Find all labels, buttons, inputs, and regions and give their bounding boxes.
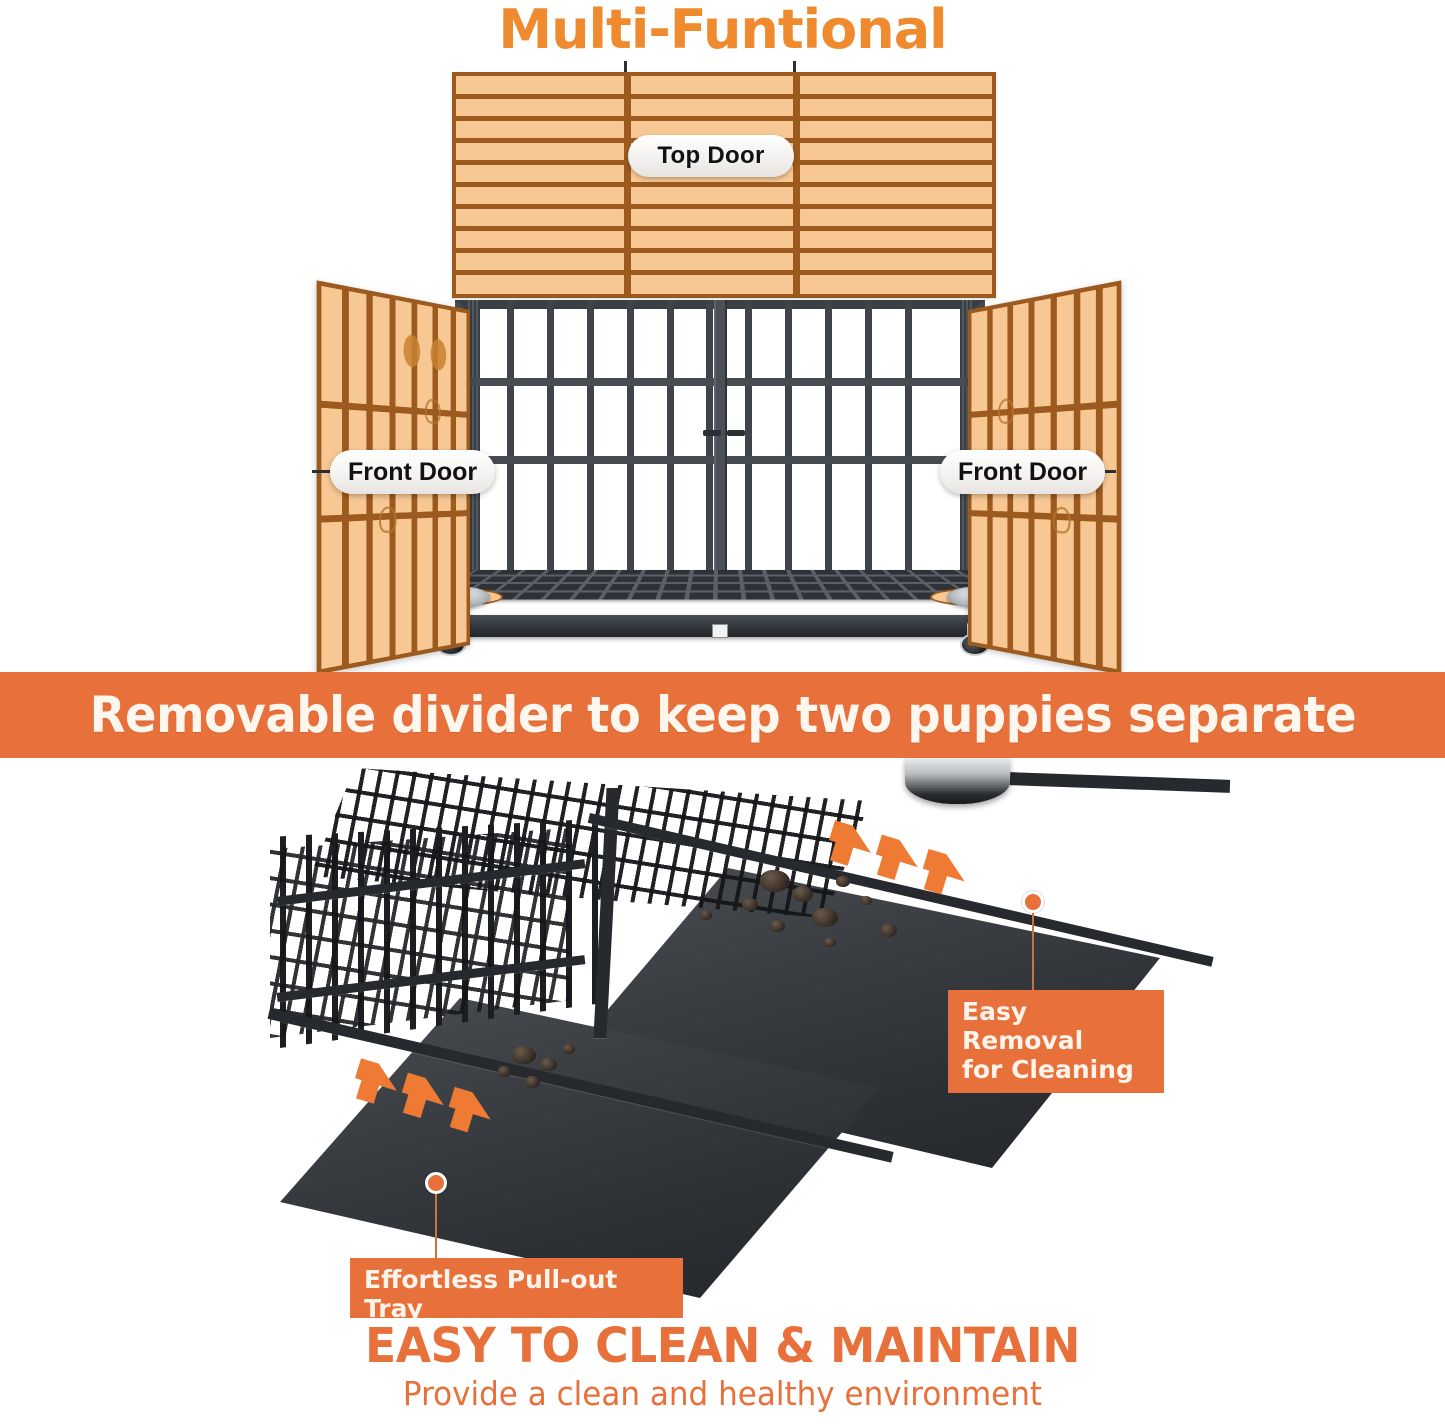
cage-latch[interactable] xyxy=(727,430,745,436)
callout-line-pull-out-tray xyxy=(435,1194,437,1264)
mounted-food-bowl xyxy=(905,758,1010,804)
top-door-bar xyxy=(456,270,992,275)
front-door-left-label-stem xyxy=(312,470,332,473)
callout-easy-removal-line2: for Cleaning xyxy=(962,1055,1150,1084)
door-hook-clip[interactable] xyxy=(998,398,1014,424)
top-door-bar xyxy=(456,94,992,99)
cage-vertical-bar xyxy=(785,300,792,596)
debris-particle xyxy=(793,886,813,902)
door-hook-clip[interactable] xyxy=(379,506,396,533)
front-door-left-label: Front Door xyxy=(330,450,495,494)
top-door-bar xyxy=(456,204,992,209)
top-door-panel[interactable] xyxy=(452,72,996,298)
cage-vertical-bar xyxy=(547,300,554,596)
callout-line-easy-removal xyxy=(1032,913,1034,996)
top-door-vertical-bar xyxy=(624,76,631,294)
cage-vertical-bar xyxy=(667,300,674,596)
debris-particle xyxy=(498,1066,511,1077)
footer-subheadline: Provide a clean and healthy environment xyxy=(43,1374,1401,1413)
callout-dot-easy-removal xyxy=(1022,891,1044,913)
debris-particle xyxy=(760,870,790,892)
door-hook-clip[interactable] xyxy=(425,398,441,424)
cage-assembly xyxy=(270,758,890,1088)
footer-headline: EASY TO CLEAN & MAINTAIN xyxy=(36,1318,1409,1374)
top-door-bar xyxy=(456,248,992,253)
debris-particle xyxy=(512,1046,536,1064)
callout-easy-removal-line1: Easy Removal xyxy=(962,997,1150,1055)
debris-particle xyxy=(700,910,712,920)
debris-particle xyxy=(861,896,872,905)
top-door-bar xyxy=(456,116,992,121)
grid-floor-bar xyxy=(713,570,718,599)
cage-vertical-bar xyxy=(745,300,752,596)
cage-vertical-bar xyxy=(905,300,912,596)
cage-vertical-bar xyxy=(627,300,634,596)
multifunctional-section: Multi-Funtional Top Door xyxy=(0,0,1445,672)
debris-particle xyxy=(770,920,785,932)
debris-particle xyxy=(824,938,836,947)
cage-vertical-bar xyxy=(706,300,713,596)
base-center-tab xyxy=(712,624,728,638)
cage-vertical-bar xyxy=(507,300,514,596)
top-door-label: Top Door xyxy=(628,135,794,177)
door-hook-clip[interactable] xyxy=(1053,507,1071,534)
debris-particle xyxy=(525,1076,540,1088)
debris-particle xyxy=(563,1044,575,1054)
callout-pull-out-tray: Effortless Pull-out Tray xyxy=(350,1258,683,1318)
door-latch-knob[interactable] xyxy=(431,338,447,371)
debris-particle xyxy=(540,1058,557,1071)
removable-divider[interactable] xyxy=(714,300,727,596)
feature-banner-text: Removable divider to keep two puppies se… xyxy=(89,686,1356,744)
top-door-vertical-bar xyxy=(793,76,800,294)
cage-body xyxy=(455,300,985,596)
debris-particle xyxy=(880,924,897,937)
cage-vertical-bar xyxy=(587,300,594,596)
rail-bar xyxy=(1010,772,1230,793)
front-door-crossbar xyxy=(971,401,1116,418)
top-door-bar xyxy=(456,182,992,187)
debris-particle xyxy=(742,898,758,911)
feature-banner: Removable divider to keep two puppies se… xyxy=(0,672,1445,758)
cage-vertical-bar xyxy=(865,300,872,596)
debris-particle xyxy=(836,876,850,887)
cage-latch[interactable] xyxy=(703,430,721,436)
door-latch-knob[interactable] xyxy=(404,334,421,368)
easy-clean-photo: Easy Removal for Cleaning Effortless Pul… xyxy=(0,758,1445,1318)
debris-particle xyxy=(812,908,838,927)
top-door-bar xyxy=(456,226,992,231)
page-title: Multi-Funtional xyxy=(0,0,1445,61)
callout-pull-out-tray-line1: Effortless Pull-out Tray xyxy=(364,1265,669,1318)
front-door-crossbar xyxy=(971,510,1116,522)
callout-dot-pull-out-tray xyxy=(425,1172,447,1194)
cage-vertical-bar xyxy=(825,300,832,596)
callout-easy-removal: Easy Removal for Cleaning xyxy=(948,990,1164,1093)
front-door-right-label: Front Door xyxy=(940,450,1105,494)
